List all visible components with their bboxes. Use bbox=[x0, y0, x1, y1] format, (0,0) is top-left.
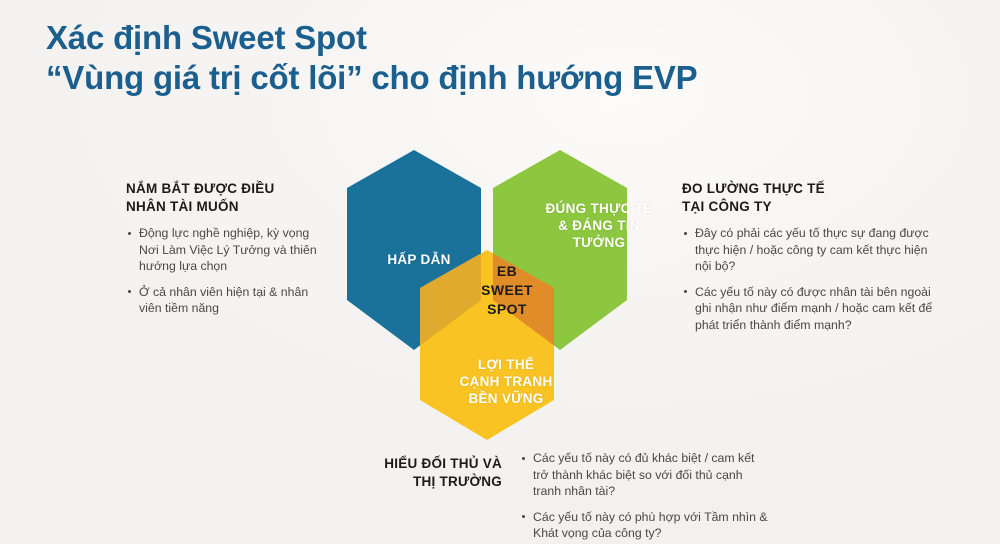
callout-left-heading-line-2: NHÂN TÀI MUỐN bbox=[126, 198, 326, 216]
list-item: Các yếu tố này có phù hợp với Tầm nhìn &… bbox=[520, 509, 772, 542]
list-item: Động lực nghề nghiệp, kỳ vọng Nơi Làm Vi… bbox=[126, 225, 326, 275]
callout-right: ĐO LƯỜNG THỰC TẾ TẠI CÔNG TY Đây có phải… bbox=[682, 180, 940, 342]
venn-svg bbox=[330, 138, 680, 458]
list-item: Các yếu tố này có được nhân tài bên ngoà… bbox=[682, 284, 940, 334]
callout-bottom-heading: HIỂU ĐỐI THỦ VÀ THỊ TRƯỜNG bbox=[352, 455, 502, 491]
callout-left-heading-line-1: NẮM BẮT ĐƯỢC ĐIỀU bbox=[126, 180, 326, 198]
list-item: Đây có phải các yếu tố thực sự đang được… bbox=[682, 225, 940, 275]
callout-left: NẮM BẮT ĐƯỢC ĐIỀU NHÂN TÀI MUỐN Động lực… bbox=[126, 180, 326, 326]
page-title-line-1: Xác định Sweet Spot bbox=[46, 18, 946, 58]
callout-right-bullets: Đây có phải các yếu tố thực sự đang được… bbox=[682, 225, 940, 333]
callout-bottom-bullets: Các yếu tố này có đủ khác biệt / cam kết… bbox=[520, 450, 772, 544]
venn-diagram: HẤP DẪN ĐÚNG THỰC TẾ& ĐÁNG TINTƯỞNG LỢI … bbox=[330, 138, 680, 458]
list-item: Các yếu tố này có đủ khác biệt / cam kết… bbox=[520, 450, 772, 500]
page-title: Xác định Sweet Spot “Vùng giá trị cốt lõ… bbox=[46, 18, 946, 98]
callout-right-heading-line-2: TẠI CÔNG TY bbox=[682, 198, 940, 216]
list-item: Ở cả nhân viên hiện tại & nhân viên tiềm… bbox=[126, 284, 326, 317]
callout-right-heading: ĐO LƯỜNG THỰC TẾ TẠI CÔNG TY bbox=[682, 180, 940, 216]
callout-bottom-heading-line-1: HIỂU ĐỐI THỦ VÀ bbox=[352, 455, 502, 473]
callout-left-bullets: Động lực nghề nghiệp, kỳ vọng Nơi Làm Vi… bbox=[126, 225, 326, 317]
callout-left-heading: NẮM BẮT ĐƯỢC ĐIỀU NHÂN TÀI MUỐN bbox=[126, 180, 326, 216]
callout-bottom-heading-line-2: THỊ TRƯỜNG bbox=[352, 473, 502, 491]
callout-right-heading-line-1: ĐO LƯỜNG THỰC TẾ bbox=[682, 180, 940, 198]
page-title-line-2: “Vùng giá trị cốt lõi” cho định hướng EV… bbox=[46, 58, 946, 98]
